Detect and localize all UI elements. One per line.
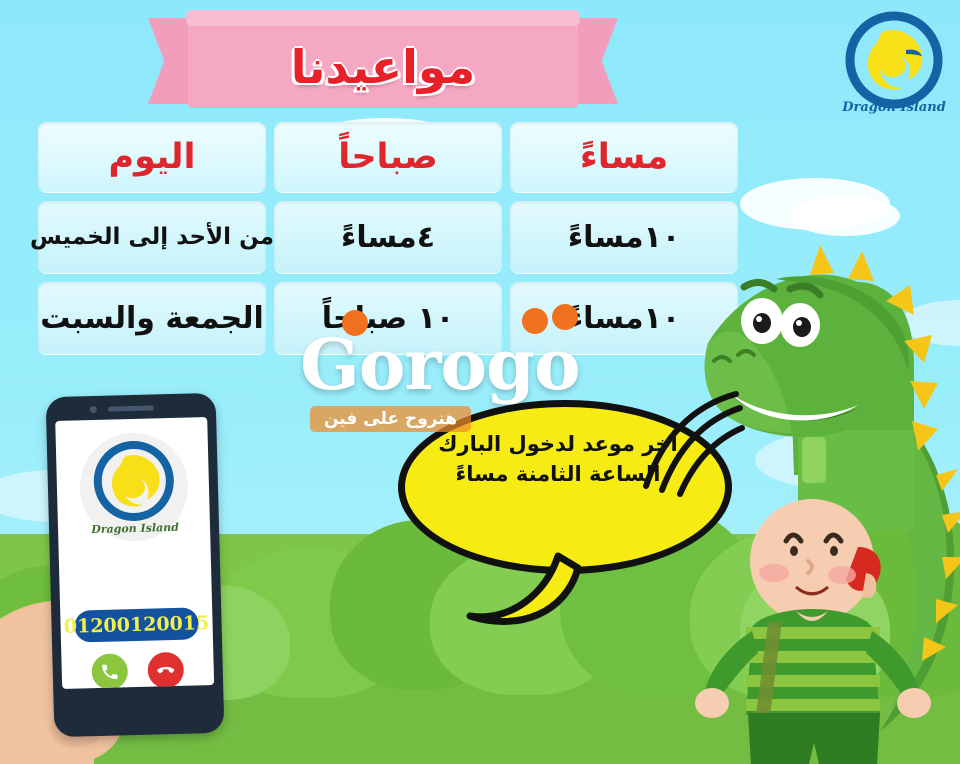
header-label-morning: صباحاً bbox=[338, 137, 438, 177]
header-cell-day: اليوم bbox=[38, 122, 266, 192]
row-0-evening-value: ١٠مساءً bbox=[568, 220, 680, 255]
row-1-morning-value: ١٠ صباحاً bbox=[322, 301, 454, 336]
row-0-morning-cell: ٤مساءً bbox=[274, 201, 502, 273]
call-glyph bbox=[100, 661, 121, 682]
smartphone: Dragon Island 01200120015 bbox=[46, 393, 225, 737]
schedule-table: اليوم صباحاً مساءً من الأحد إلى الخميس ٤… bbox=[38, 122, 738, 363]
header-label-day: اليوم bbox=[108, 137, 195, 177]
hangup-glyph bbox=[156, 660, 177, 681]
phone-call-icon[interactable] bbox=[91, 653, 128, 689]
row-0-morning-value: ٤مساءً bbox=[341, 220, 435, 255]
speech-bubble-tail bbox=[450, 520, 590, 630]
row-0-day-cell: من الأحد إلى الخميس bbox=[38, 201, 266, 273]
phone-number-badge: 01200120015 bbox=[74, 607, 199, 642]
phone-screen-logo: Dragon Island bbox=[78, 430, 191, 545]
logo-label: Dragon Island bbox=[841, 100, 946, 115]
dragon-island-logo: Dragon Island bbox=[838, 8, 950, 120]
phone-screen: Dragon Island 01200120015 bbox=[55, 417, 214, 689]
phone-speaker-grille bbox=[108, 405, 154, 411]
row-1-evening-value: ١٠مساءً bbox=[568, 301, 680, 336]
title-ribbon: مواعيدنا bbox=[148, 14, 618, 114]
phone-logo-label: Dragon Island bbox=[90, 521, 179, 536]
row-1-day-value: الجمعة والسبت bbox=[40, 301, 264, 336]
header-cell-morning: صباحاً bbox=[274, 122, 502, 192]
page-title: مواعيدنا bbox=[148, 20, 618, 114]
row-1-day-cell: الجمعة والسبت bbox=[38, 282, 266, 354]
table-row: الجمعة والسبت ١٠ صباحاً ١٠مساءً bbox=[38, 282, 738, 354]
row-0-day-value: من الأحد إلى الخميس bbox=[30, 224, 274, 250]
header-label-evening: مساءً bbox=[580, 137, 668, 177]
table-header-row: اليوم صباحاً مساءً bbox=[38, 122, 738, 192]
row-1-morning-cell: ١٠ صباحاً bbox=[274, 282, 502, 354]
speech-bubble-motion-lines bbox=[640, 390, 750, 500]
poster-canvas: مواعيدنا اليوم صباحاً مساءً من الأحد إلى… bbox=[0, 0, 960, 764]
phone-hangup-icon[interactable] bbox=[147, 652, 184, 689]
phone-front-camera bbox=[90, 406, 97, 413]
table-row: من الأحد إلى الخميس ٤مساءً ١٠مساءً bbox=[38, 201, 738, 273]
